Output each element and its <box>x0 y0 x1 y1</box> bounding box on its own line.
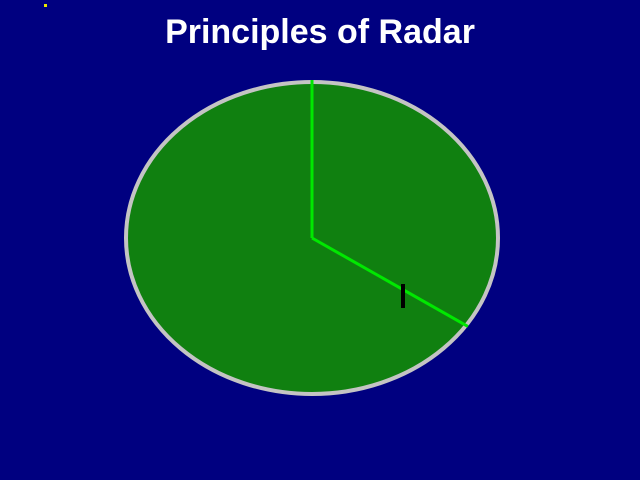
pie-chart-svg <box>0 0 640 480</box>
slide-canvas: Principles of Radar <box>0 0 640 480</box>
black-tick-mark <box>401 284 405 308</box>
pie-chart <box>0 0 640 480</box>
